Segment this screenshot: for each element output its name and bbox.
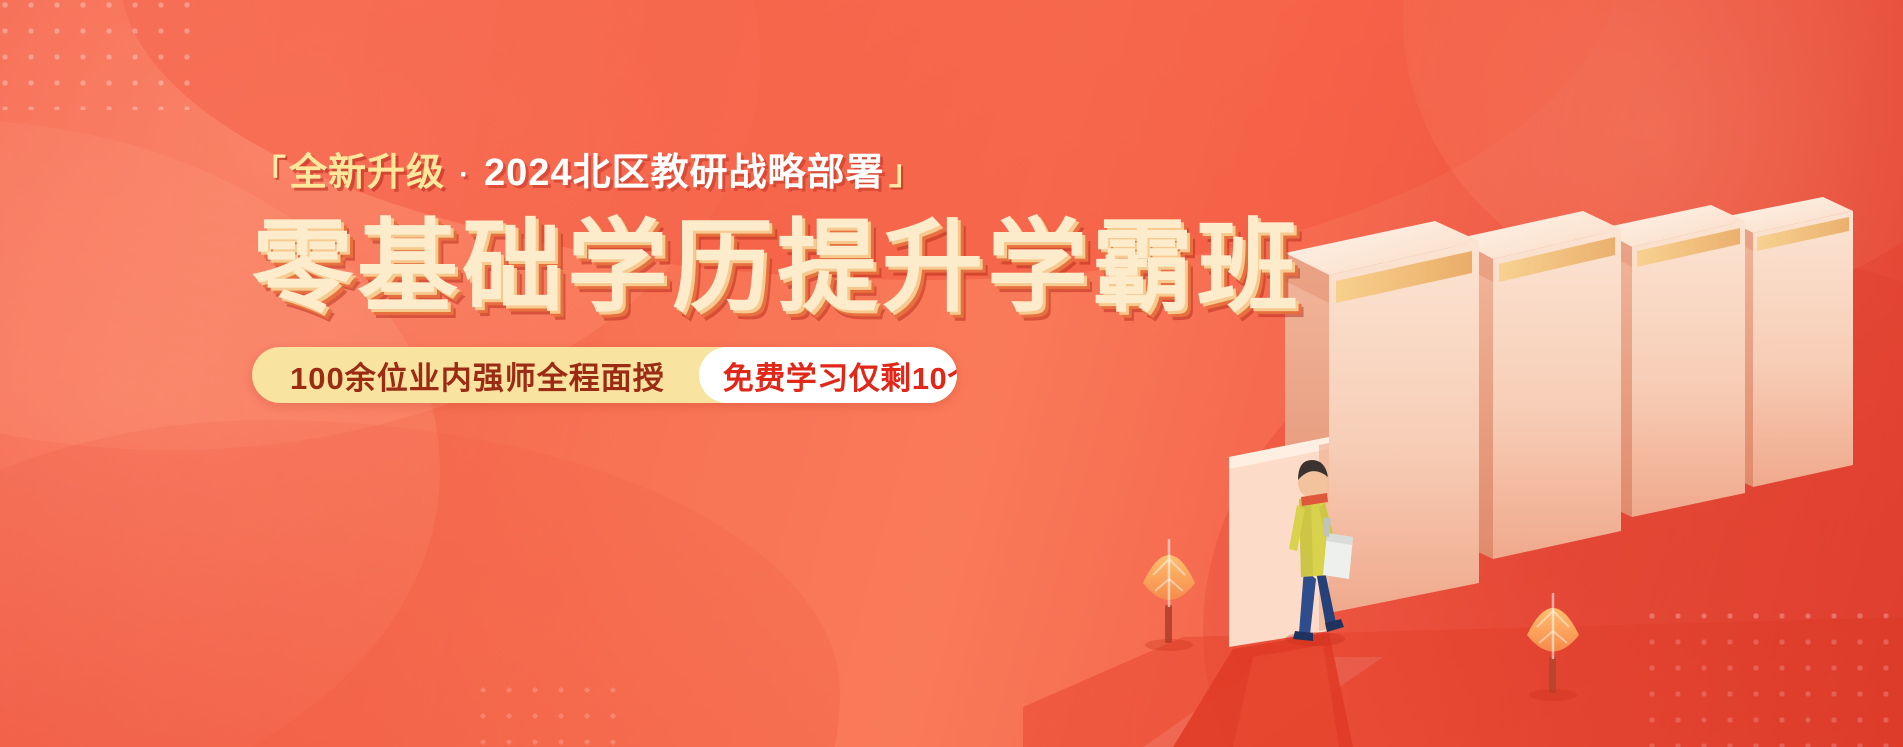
- subtitle-highlight: 全新升级: [289, 153, 445, 195]
- promo-banner: 「 全新升级 · 2024北区教研战略部署 」 零基础学历提升学霸班 100余位…: [0, 0, 1903, 747]
- subtitle-bracket-left: 「: [252, 155, 287, 192]
- subtitle-rest: 2024北区教研战略部署: [484, 153, 885, 195]
- pill-remaining-slots[interactable]: 免费学习仅剩10个名额！: [699, 347, 957, 403]
- dot-pattern-top-left: [0, 0, 192, 110]
- pill-teachers-label: 100余位业内强师全程面授: [252, 347, 699, 403]
- subtitle-bracket-right: 」: [889, 155, 924, 192]
- dot-pattern-bottom-left: [470, 677, 620, 747]
- background-blob-bottom-left: [0, 420, 840, 747]
- page-title: 零基础学历提升学霸班: [252, 214, 1072, 323]
- ground-shadow: [1023, 617, 1903, 747]
- banner-subtitle: 「 全新升级 · 2024北区教研战略部署 」: [252, 148, 1072, 200]
- orange-tree-left: [1143, 539, 1195, 651]
- feature-pill-group: 100余位业内强师全程面授 免费学习仅剩10个名额！: [252, 347, 957, 403]
- subtitle-separator-dot: ·: [459, 158, 470, 191]
- banner-copy: 「 全新升级 · 2024北区教研战略部署 」 零基础学历提升学霸班 100余位…: [252, 148, 1072, 403]
- book-arch-2: [1455, 211, 1621, 559]
